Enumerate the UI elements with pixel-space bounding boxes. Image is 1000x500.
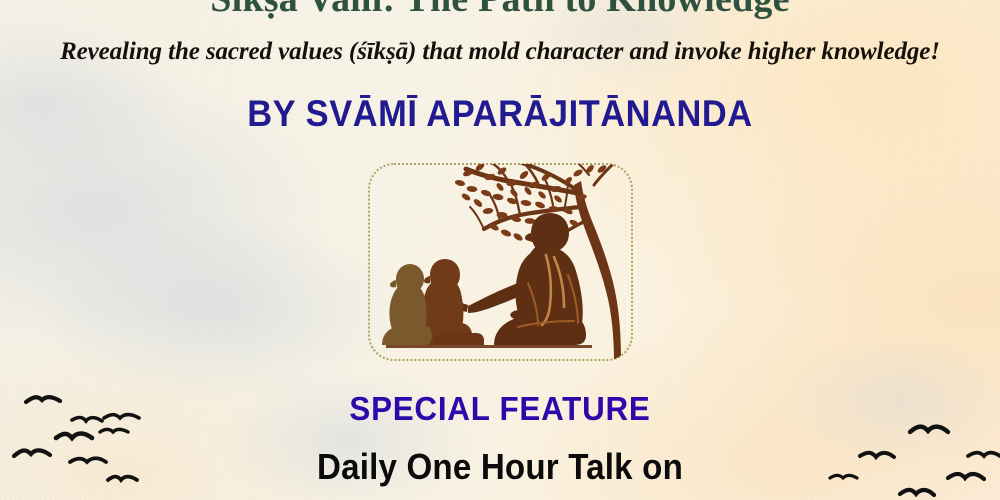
bird-icon xyxy=(26,397,60,402)
bird-icon xyxy=(910,427,948,432)
poster-canvas: Śikṣā Vallī: The Path to Knowledge Revea… xyxy=(0,0,1000,500)
speaker-byline: BY SVĀMĪ APARĀJITĀNANDA xyxy=(35,93,965,135)
bird-icon xyxy=(860,453,894,457)
guru-teaching-illustration-icon xyxy=(368,163,633,361)
bird-flock-left-icon xyxy=(4,376,184,500)
page-title: Śikṣā Vallī: The Path to Knowledge xyxy=(0,0,1000,24)
bird-icon xyxy=(108,477,137,480)
bird-icon xyxy=(72,417,102,421)
illustration-container xyxy=(368,163,633,361)
bird-icon xyxy=(968,453,1000,456)
student-figure-back xyxy=(382,264,432,345)
bird-icon xyxy=(14,450,50,456)
mat-object xyxy=(434,333,484,345)
ground-line xyxy=(386,345,592,348)
bird-icon xyxy=(70,458,106,462)
bird-icon xyxy=(100,429,128,432)
bird-icon xyxy=(104,415,139,418)
bird-flock-right-icon xyxy=(824,404,1000,500)
bird-icon xyxy=(948,474,984,479)
bird-icon xyxy=(900,490,934,495)
page-subtitle: Revealing the sacred values (śīkṣā) that… xyxy=(0,38,1000,66)
bird-icon xyxy=(56,434,92,439)
bird-icon xyxy=(830,475,857,478)
